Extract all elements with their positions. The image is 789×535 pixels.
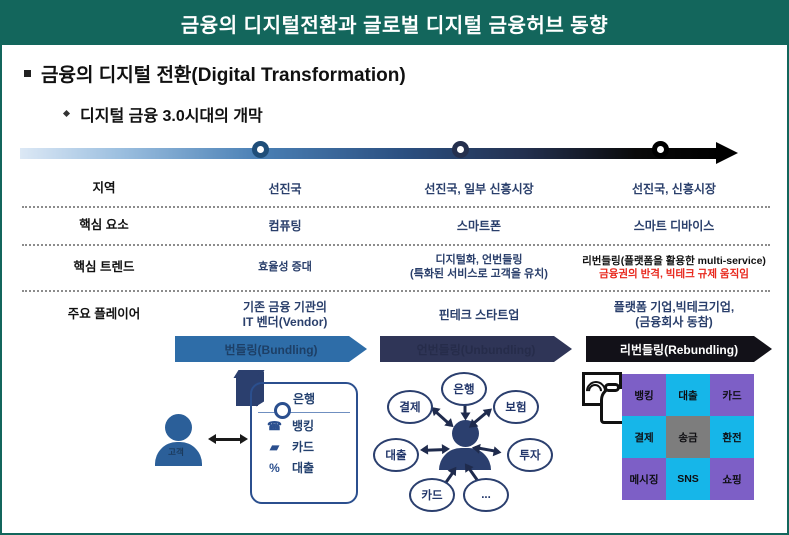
customer-label: 고객 [159, 446, 193, 458]
puzzle-grid: 뱅킹 대출 카드 결제 송금 환전 메시징 SNS 쇼핑 [622, 374, 754, 500]
puzzle-cell-exchange: 환전 [710, 416, 754, 458]
puzzle-cell-remittance: 송금 [666, 416, 710, 458]
row-value: 선진국 [188, 172, 382, 206]
band-label: 번들링(Bundling) [224, 341, 317, 358]
band-label: 리번들링(Rebundling) [620, 341, 738, 358]
band-rebundling: 리번들링(Rebundling) [586, 336, 772, 362]
puzzle-cell-messaging: 메시징 [622, 458, 666, 500]
spoke-node-payment: 결제 [387, 390, 433, 424]
row-label: 지역 [20, 172, 188, 206]
row-value: 기존 금융 기관의 IT 벤더(Vendor) [188, 292, 382, 338]
comparison-table: 지역 선진국 선진국, 일부 신흥시장 선진국, 신흥시장 핵심 요소 컴퓨팅 … [20, 172, 772, 338]
spoke-node-bank: 은행 [441, 372, 487, 406]
bank-item-label: 뱅킹 [292, 417, 314, 434]
slide-header: 금융의 디지털전환과 글로벌 디지털 금융허브 동향 [2, 2, 787, 45]
teller-icon: ☎ [266, 419, 283, 433]
bank-item-label: 대출 [292, 459, 314, 476]
diamond-bullet-icon [63, 110, 70, 117]
puzzle-cell-card: 카드 [710, 374, 754, 416]
row-label: 핵심 트렌드 [20, 246, 188, 290]
timeline-marker-2 [452, 141, 469, 158]
row-value: 선진국, 일부 신흥시장 [382, 172, 576, 206]
row-value-line2: (특화된 서비스로 고객을 유치) [410, 268, 548, 282]
band-unbundling: 언번들링(Unbundling) [380, 336, 572, 362]
table-row: 지역 선진국 선진국, 일부 신흥시장 선진국, 신흥시장 [20, 172, 772, 206]
credit-card-icon: ▰ [266, 440, 283, 454]
row-value-line2-highlight: 금융권의 반격, 빅테크 규제 움직임 [599, 268, 749, 281]
spoke-node-insurance: 보험 [493, 390, 539, 424]
bank-item-card: ▰ 카드 [258, 434, 350, 455]
table-row: 주요 플레이어 기존 금융 기관의 IT 벤더(Vendor) 핀테크 스타트업… [20, 292, 772, 338]
table-row: 핵심 요소 컴퓨팅 스마트폰 스마트 디바이스 [20, 208, 772, 244]
row-value: 디지털화, 언번들링 (특화된 서비스로 고객을 유치) [382, 246, 576, 290]
spoke-node-invest: 투자 [507, 438, 553, 472]
row-value: 플랫폼 기업,빅테크기업, (금융회사 동참) [576, 292, 772, 338]
gear-icon [274, 402, 291, 419]
customer-figure-icon: 고객 [155, 414, 203, 466]
spoke-arrow [423, 448, 447, 452]
bank-item-banking: ☎ 뱅킹 [258, 413, 350, 434]
illustration-bank-panel: 고객 은행 ☎ 뱅킹 ▰ 카드 % 대출 [152, 368, 362, 518]
bullet-level2-label: 디지털 금융 3.0시대의 개막 [80, 102, 263, 126]
row-value: 효율성 증대 [188, 246, 382, 290]
bidirectional-arrow-icon [208, 434, 248, 444]
row-label: 핵심 요소 [20, 208, 188, 244]
bank-service-panel: 은행 ☎ 뱅킹 ▰ 카드 % 대출 [250, 382, 358, 504]
timeline-arrowhead-icon [716, 142, 738, 164]
row-value-line1: 디지털화, 언번들링 [435, 254, 522, 268]
spoke-node-card: 카드 [409, 478, 455, 512]
slide: 금융의 디지털전환과 글로벌 디지털 금융허브 동향 금융의 디지털 전환(Di… [0, 0, 789, 535]
timeline-marker-1 [252, 141, 269, 158]
row-value-line1: 리번들링(플랫폼을 활용한 multi-service) [582, 255, 766, 268]
bank-title-label: 은행 [293, 390, 315, 407]
row-value-line1: 기존 금융 기관의 [243, 300, 327, 315]
band-label: 언번들링(Unbundling) [417, 341, 536, 358]
illustration-puzzle: 뱅킹 대출 카드 결제 송금 환전 메시징 SNS 쇼핑 [580, 368, 780, 518]
percent-icon: % [266, 461, 283, 475]
row-value-line2: IT 벤더(Vendor) [243, 315, 328, 330]
band-bundling: 번들링(Bundling) [175, 336, 367, 362]
puzzle-cell-loan: 대출 [666, 374, 710, 416]
puzzle-cell-shopping: 쇼핑 [710, 458, 754, 500]
row-value: 핀테크 스타트업 [382, 292, 576, 338]
stage-bands: 번들링(Bundling) 언번들링(Unbundling) 리번들링(Rebu… [20, 336, 772, 362]
bank-item-label: 카드 [292, 438, 314, 455]
row-value: 컴퓨팅 [188, 208, 382, 244]
row-value: 리번들링(플랫폼을 활용한 multi-service) 금융권의 반격, 빅테… [576, 246, 772, 290]
spoke-node-etc: ... [463, 478, 509, 512]
bullet-level1-label: 금융의 디지털 전환(Digital Transformation) [41, 60, 406, 87]
puzzle-cell-payment: 결제 [622, 416, 666, 458]
bank-panel-title: 은행 [258, 390, 350, 413]
row-value: 스마트 디바이스 [576, 208, 772, 244]
puzzle-cell-sns: SNS [666, 458, 710, 500]
timeline-marker-3 [652, 141, 669, 158]
customer-head [165, 414, 192, 441]
illustration-hub-spoke: 은행 보험 투자 ... 카드 대출 결제 [367, 368, 567, 518]
row-label: 주요 플레이어 [20, 292, 188, 338]
spoke-node-loan: 대출 [373, 438, 419, 472]
bank-item-loan: % 대출 [258, 455, 350, 476]
bullet-level2: 디지털 금융 3.0시대의 개막 [64, 102, 263, 126]
page-title: 금융의 디지털전환과 글로벌 디지털 금융허브 동향 [181, 9, 608, 38]
row-value-line1: 플랫폼 기업,빅테크기업, [614, 300, 734, 315]
timeline [20, 142, 772, 164]
table-row: 핵심 트렌드 효율성 증대 디지털화, 언번들링 (특화된 서비스로 고객을 유… [20, 246, 772, 290]
row-value: 선진국, 신흥시장 [576, 172, 772, 206]
timeline-bar [20, 148, 720, 159]
bullet-level1: 금융의 디지털 전환(Digital Transformation) [24, 60, 406, 87]
row-value: 스마트폰 [382, 208, 576, 244]
puzzle-cell-banking: 뱅킹 [622, 374, 666, 416]
square-bullet-icon [24, 70, 31, 77]
row-value-line2: (금융회사 동참) [635, 315, 713, 330]
